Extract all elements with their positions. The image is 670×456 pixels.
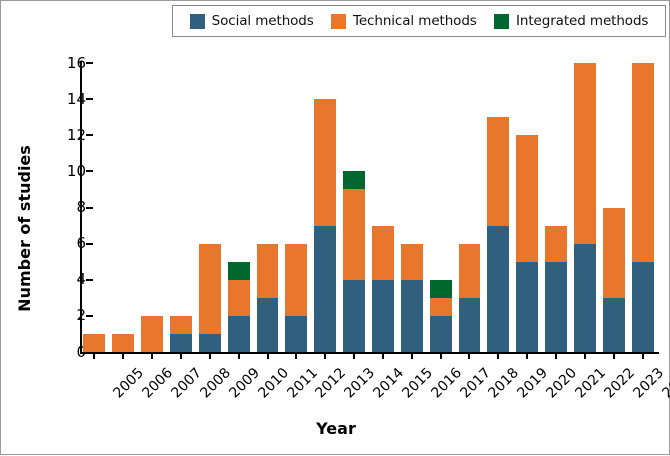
bar-group[interactable] xyxy=(513,63,542,352)
bar-group[interactable] xyxy=(599,63,628,352)
bar-stack[interactable] xyxy=(574,63,596,352)
x-axis-title: Year xyxy=(1,419,670,438)
bar-segment[interactable] xyxy=(372,226,394,280)
bar-stack[interactable] xyxy=(170,316,192,352)
bar-segment[interactable] xyxy=(545,262,567,352)
bar-group[interactable] xyxy=(109,63,138,352)
bar-segment[interactable] xyxy=(516,135,538,261)
bar-group[interactable] xyxy=(80,63,109,352)
bar-segment[interactable] xyxy=(343,189,365,279)
bar-segment[interactable] xyxy=(141,316,163,352)
x-axis-tick-mark xyxy=(468,352,470,359)
legend-label: Technical methods xyxy=(353,13,477,29)
bar-segment[interactable] xyxy=(401,280,423,352)
x-axis-tick-label: 2015 xyxy=(399,365,436,402)
legend-entry[interactable]: Technical methods xyxy=(331,13,477,29)
x-axis-tick-mark xyxy=(382,352,384,359)
x-axis-tick-label: 2005 xyxy=(111,365,148,402)
bar-segment[interactable] xyxy=(459,298,481,352)
x-axis-tick-label: 2023 xyxy=(630,365,667,402)
bar-segment[interactable] xyxy=(170,334,192,352)
bar-segment[interactable] xyxy=(603,208,625,298)
chart-figure: Social methodsTechnical methodsIntegrate… xyxy=(0,0,670,455)
x-axis-tick-mark xyxy=(497,352,499,359)
bar-group[interactable] xyxy=(167,63,196,352)
bar-segment[interactable] xyxy=(487,226,509,352)
x-axis-tick-label: 2010 xyxy=(255,365,292,402)
x-axis-tick-mark xyxy=(324,352,326,359)
bar-stack[interactable] xyxy=(459,244,481,352)
bar-stack[interactable] xyxy=(141,316,163,352)
bar-stack[interactable] xyxy=(83,334,105,352)
bar-segment[interactable] xyxy=(372,280,394,352)
x-axis-tick-mark xyxy=(267,352,269,359)
x-axis-tick-label: 2009 xyxy=(226,365,263,402)
bar-segment[interactable] xyxy=(487,117,509,225)
bar-group[interactable] xyxy=(484,63,513,352)
bar-group[interactable] xyxy=(138,63,167,352)
x-axis-tick-mark xyxy=(526,352,528,359)
x-axis-tick-label: 2006 xyxy=(140,365,177,402)
legend-swatch-icon xyxy=(494,14,509,29)
bar-segment[interactable] xyxy=(314,226,336,352)
x-axis-tick-mark xyxy=(295,352,297,359)
bar-stack[interactable] xyxy=(257,244,279,352)
bar-stack[interactable] xyxy=(401,244,423,352)
bar-group[interactable] xyxy=(253,63,282,352)
x-axis-tick-label: 2017 xyxy=(457,365,494,402)
bar-segment[interactable] xyxy=(228,316,250,352)
bar-stack[interactable] xyxy=(430,280,452,352)
x-axis-tick-label: 2007 xyxy=(169,365,206,402)
bar-segment[interactable] xyxy=(228,262,250,280)
x-axis-tick-label: 2012 xyxy=(313,365,350,402)
bar-segment[interactable] xyxy=(343,171,365,189)
bar-segment[interactable] xyxy=(574,244,596,352)
x-axis-tick-label: 2016 xyxy=(428,365,465,402)
bar-group[interactable] xyxy=(369,63,398,352)
x-axis-tick-label: 2021 xyxy=(572,365,609,402)
bar-stack[interactable] xyxy=(603,208,625,353)
bar-group[interactable] xyxy=(628,63,657,352)
bar-group[interactable] xyxy=(340,63,369,352)
legend-label: Integrated methods xyxy=(516,13,648,29)
bar-stack[interactable] xyxy=(314,99,336,352)
x-axis-tick-mark xyxy=(151,352,153,359)
bar-group[interactable] xyxy=(542,63,571,352)
bar-group[interactable] xyxy=(570,63,599,352)
bar-stack[interactable] xyxy=(487,117,509,352)
legend-entry[interactable]: Social methods xyxy=(190,13,314,29)
bar-segment[interactable] xyxy=(459,244,481,298)
x-axis-tick-label: 2020 xyxy=(544,365,581,402)
bar-segment[interactable] xyxy=(199,244,221,334)
bar-group[interactable] xyxy=(195,63,224,352)
bar-stack[interactable] xyxy=(343,171,365,352)
x-axis-line xyxy=(80,352,659,354)
legend-swatch-icon xyxy=(190,14,205,29)
x-axis-tick-mark xyxy=(440,352,442,359)
bar-segment[interactable] xyxy=(632,63,654,262)
x-axis-tick-mark xyxy=(613,352,615,359)
bar-segment[interactable] xyxy=(343,280,365,352)
bar-group[interactable] xyxy=(397,63,426,352)
bar-stack[interactable] xyxy=(285,244,307,352)
bar-segment[interactable] xyxy=(314,99,336,225)
bar-segment[interactable] xyxy=(430,298,452,316)
x-axis-tick-label: 2019 xyxy=(515,365,552,402)
bar-segment[interactable] xyxy=(574,63,596,244)
bar-stack[interactable] xyxy=(112,334,134,352)
y-axis-title: Number of studies xyxy=(7,1,41,456)
bar-segment[interactable] xyxy=(257,298,279,352)
x-axis-tick-label: 2011 xyxy=(284,365,321,402)
bar-stack[interactable] xyxy=(199,244,221,352)
bar-group[interactable] xyxy=(455,63,484,352)
bar-group[interactable] xyxy=(282,63,311,352)
bar-segment[interactable] xyxy=(632,262,654,352)
x-axis-tick-mark xyxy=(93,352,95,359)
bar-segment[interactable] xyxy=(285,244,307,316)
bar-segment[interactable] xyxy=(430,280,452,298)
bar-segment[interactable] xyxy=(401,244,423,280)
x-axis-tick-mark xyxy=(642,352,644,359)
x-axis-tick-label: 2014 xyxy=(371,365,408,402)
bar-group[interactable] xyxy=(311,63,340,352)
x-axis-tick-mark xyxy=(411,352,413,359)
legend-label: Social methods xyxy=(212,13,314,29)
x-axis-tick-label: 2013 xyxy=(342,365,379,402)
x-axis-tick-label: 2022 xyxy=(601,365,638,402)
x-axis-tick-mark xyxy=(180,352,182,359)
x-axis-tick-mark xyxy=(122,352,124,359)
x-axis-tick-mark xyxy=(238,352,240,359)
bar-segment[interactable] xyxy=(285,316,307,352)
x-axis-tick-mark xyxy=(353,352,355,359)
bar-segment[interactable] xyxy=(199,334,221,352)
bar-stack[interactable] xyxy=(372,226,394,352)
x-axis-tick-mark xyxy=(584,352,586,359)
bar-stack[interactable] xyxy=(516,135,538,352)
x-axis-tick-label: 2008 xyxy=(197,365,234,402)
bar-segment[interactable] xyxy=(516,262,538,352)
bar-segment[interactable] xyxy=(170,316,192,334)
bar-stack[interactable] xyxy=(545,226,567,352)
bar-stack[interactable] xyxy=(632,63,654,352)
bar-segment[interactable] xyxy=(83,334,105,352)
bar-segment[interactable] xyxy=(112,334,134,352)
plot-area: 0246810121416200520062007200820092010201… xyxy=(80,63,657,352)
bar-segment[interactable] xyxy=(545,226,567,262)
bar-segment[interactable] xyxy=(257,244,279,298)
legend-swatch-icon xyxy=(331,14,346,29)
legend-entry[interactable]: Integrated methods xyxy=(494,13,648,29)
x-axis-tick-mark xyxy=(555,352,557,359)
bar-segment[interactable] xyxy=(228,280,250,316)
bar-segment[interactable] xyxy=(603,298,625,352)
bar-stack[interactable] xyxy=(228,262,250,352)
bar-group[interactable] xyxy=(426,63,455,352)
bar-segment[interactable] xyxy=(430,316,452,352)
x-axis-tick-mark xyxy=(209,352,211,359)
x-axis-tick-label: 2018 xyxy=(486,365,523,402)
chart-legend: Social methodsTechnical methodsIntegrate… xyxy=(172,5,666,37)
bar-group[interactable] xyxy=(224,63,253,352)
